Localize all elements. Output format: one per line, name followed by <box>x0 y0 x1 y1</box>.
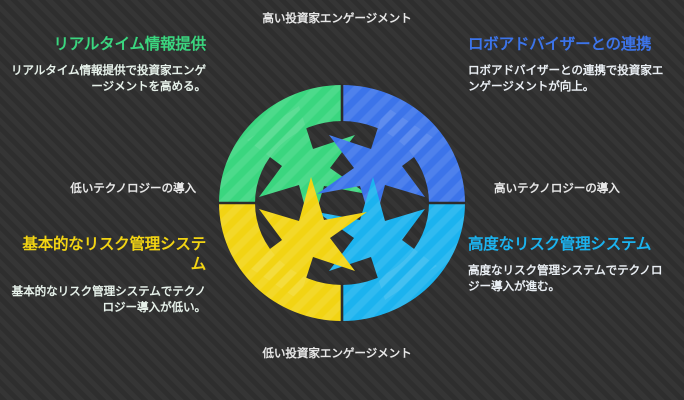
quadrant-bottom-right-heading: 高度なリスク管理システム <box>468 234 664 254</box>
quadrant-bottom-left: 基本的なリスク管理システム 基本的なリスク管理システムでテクノロジー導入が低い。 <box>10 234 206 316</box>
infographic-canvas: 高い投資家エンゲージメント 低い投資家エンゲージメント 低いテクノロジーの導入 … <box>0 0 684 400</box>
axis-label-right: 高いテクノロジーの導入 <box>494 180 680 196</box>
quadrant-top-right-heading: ロボアドバイザーとの連携 <box>468 34 664 54</box>
quadrant-top-left-body: リアルタイム情報提供で投資家エンゲージメントを高める。 <box>10 63 206 95</box>
cycle-diagram <box>207 73 477 328</box>
quadrant-top-right-body: ロボアドバイザーとの連携で投資家エンゲージメントが向上。 <box>468 63 664 95</box>
axis-label-top: 高い投資家エンゲージメント <box>242 10 432 26</box>
quadrant-bottom-left-body: 基本的なリスク管理システムでテクノロジー導入が低い。 <box>10 284 206 316</box>
quadrant-top-right: ロボアドバイザーとの連携 ロボアドバイザーとの連携で投資家エンゲージメントが向上… <box>468 34 664 95</box>
axis-label-left: 低いテクノロジーの導入 <box>6 180 196 196</box>
quadrant-top-left-heading: リアルタイム情報提供 <box>10 34 206 54</box>
cycle-diagram-svg <box>207 73 477 328</box>
quadrant-bottom-right-body: 高度なリスク管理システムでテクノロジー導入が進む。 <box>468 263 664 295</box>
quadrant-bottom-left-heading: 基本的なリスク管理システム <box>10 234 206 275</box>
axis-label-bottom: 低い投資家エンゲージメント <box>242 345 432 361</box>
quadrant-top-left: リアルタイム情報提供 リアルタイム情報提供で投資家エンゲージメントを高める。 <box>10 34 206 95</box>
quadrant-bottom-right: 高度なリスク管理システム 高度なリスク管理システムでテクノロジー導入が進む。 <box>468 234 664 295</box>
